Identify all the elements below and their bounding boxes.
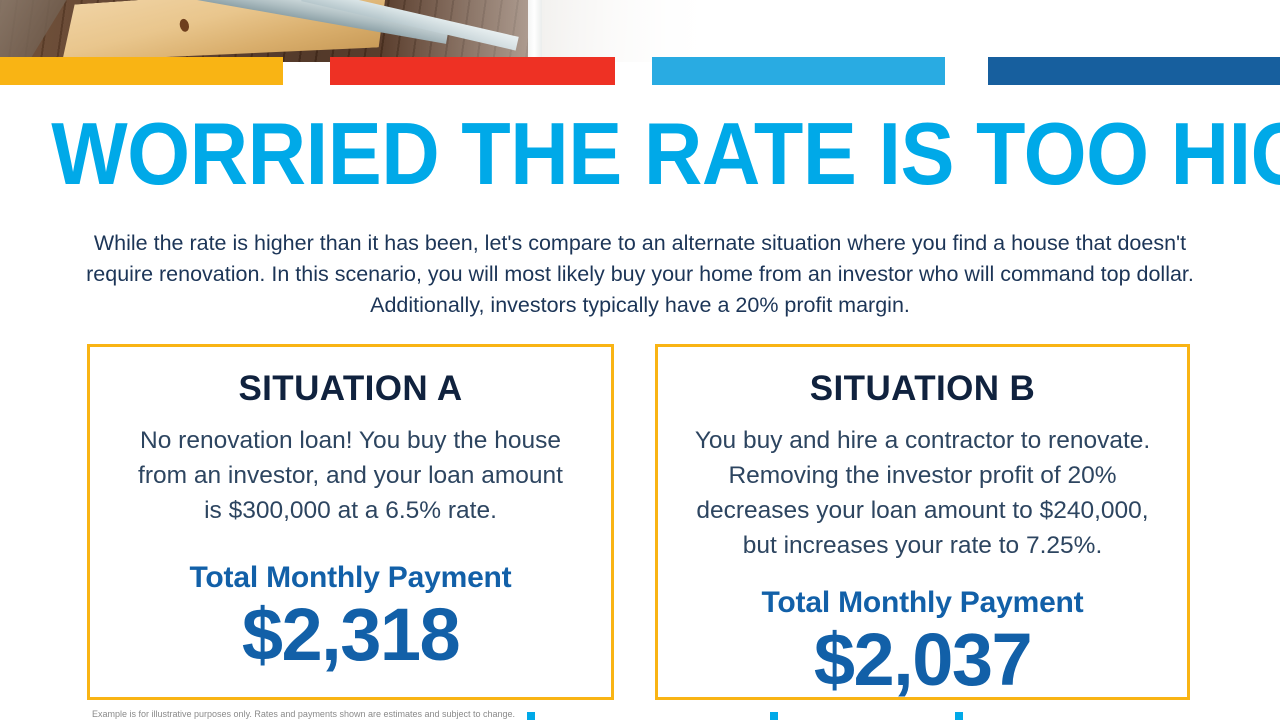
situation-card-a: SITUATION A No renovation loan! You buy … — [87, 344, 614, 700]
page-headline: WORRIED THE RATE IS TOO HIGH? — [51, 108, 1229, 200]
accent-bar-dark-blue — [988, 57, 1280, 85]
situation-a-payment-amount: $2,318 — [104, 596, 597, 674]
situation-cards: SITUATION A No renovation loan! You buy … — [0, 344, 1280, 704]
situation-a-payment-label: Total Monthly Payment — [104, 560, 597, 596]
situation-card-b: SITUATION B You buy and hire a contracto… — [655, 344, 1190, 700]
situation-b-body: You buy and hire a contractor to renovat… — [672, 423, 1173, 563]
accent-bar-red — [330, 57, 615, 85]
accent-bar-light-blue — [652, 57, 945, 85]
footer-strip: Example is for illustrative purposes onl… — [0, 709, 1280, 720]
footer-contact-row — [0, 709, 1280, 720]
accent-bar-strip — [0, 0, 1280, 88]
square-bullet-icon — [770, 712, 778, 720]
situation-b-payment-label: Total Monthly Payment — [672, 585, 1173, 621]
situation-a-body: No renovation loan! You buy the house fr… — [104, 423, 597, 528]
square-bullet-icon — [955, 712, 963, 720]
situation-b-title: SITUATION B — [672, 369, 1173, 409]
square-bullet-icon — [527, 712, 535, 720]
situation-b-payment-amount: $2,037 — [672, 621, 1173, 699]
accent-bar-yellow — [0, 57, 283, 85]
infographic-page: WORRIED THE RATE IS TOO HIGH? While the … — [0, 0, 1280, 720]
situation-a-title: SITUATION A — [104, 369, 597, 409]
intro-paragraph: While the rate is higher than it has bee… — [58, 228, 1222, 321]
